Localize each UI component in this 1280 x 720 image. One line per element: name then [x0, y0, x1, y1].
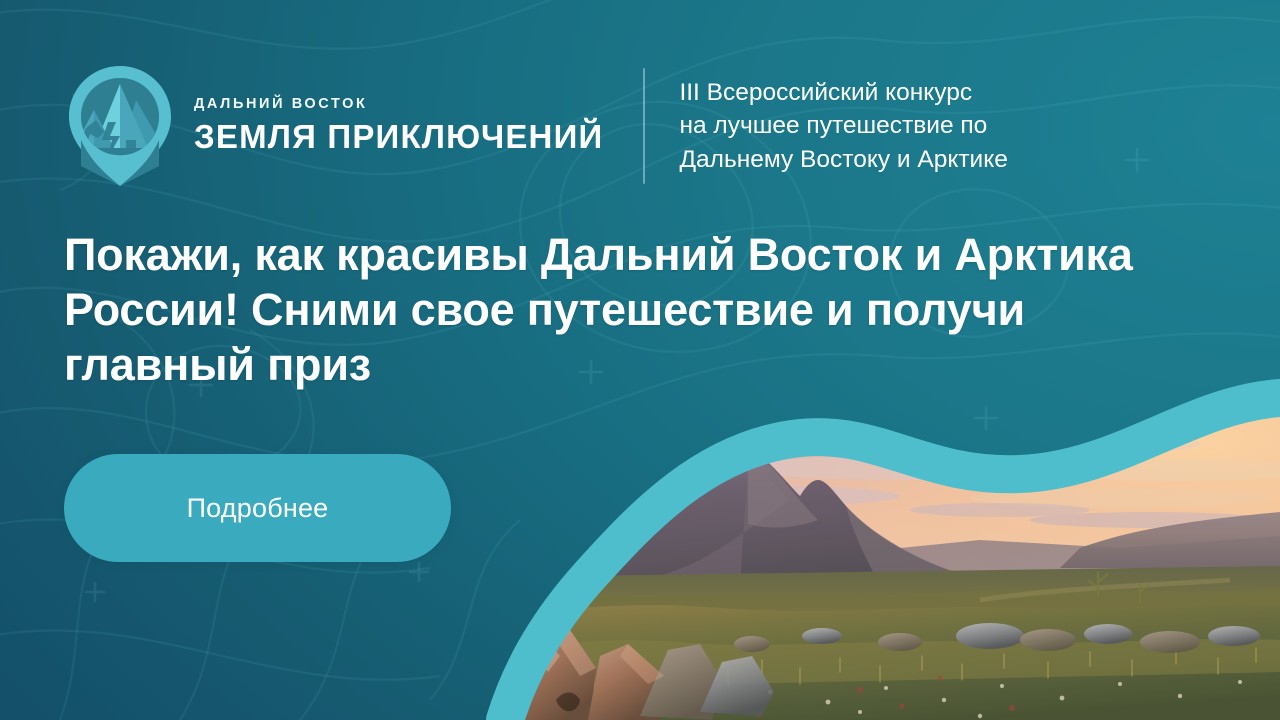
contest-subtitle: III Всероссийский конкурс на лучшее путе…: [679, 76, 1007, 176]
mountain-pin-logo-icon: [64, 62, 176, 190]
details-button[interactable]: Подробнее: [64, 454, 451, 562]
brand-name: ЗЕМЛЯ ПРИКЛЮЧЕНИЙ: [194, 120, 603, 155]
photo-content: [430, 360, 1280, 720]
brand-kicker: ДАЛЬНИЙ ВОСТОК: [194, 97, 603, 112]
brand-header: ДАЛЬНИЙ ВОСТОК ЗЕМЛЯ ПРИКЛЮЧЕНИЙ III Все…: [64, 62, 1008, 190]
page-title: Покажи, как красивы Дальний Восток и Арк…: [64, 228, 1214, 393]
logo-wordmark: ДАЛЬНИЙ ВОСТОК ЗЕМЛЯ ПРИКЛЮЧЕНИЙ: [194, 97, 603, 155]
header-divider: [643, 68, 645, 184]
promo-banner: ДАЛЬНИЙ ВОСТОК ЗЕМЛЯ ПРИКЛЮЧЕНИЙ III Все…: [0, 0, 1280, 720]
wave-accent-stroke: [505, 398, 1280, 720]
